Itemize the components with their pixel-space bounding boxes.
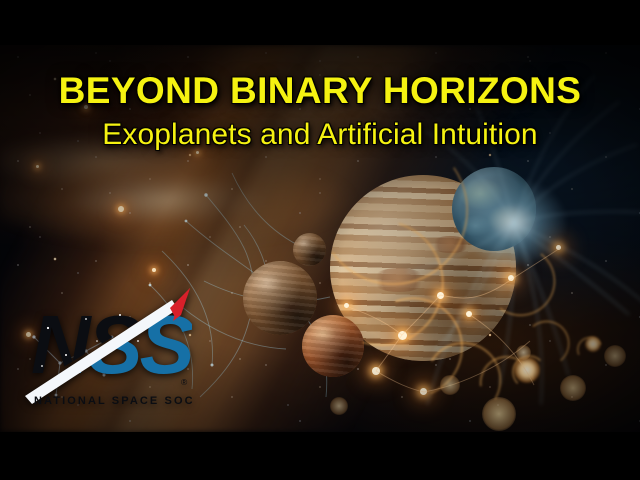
bokeh-orb xyxy=(560,375,586,401)
nss-logo-artwork: NSS NSS ® NAT xyxy=(22,282,192,410)
bokeh-orb xyxy=(482,397,516,431)
bokeh-orb xyxy=(516,345,531,360)
bokeh-orb xyxy=(604,345,626,367)
letterbox-bar-top xyxy=(0,0,640,45)
registered-mark: ® xyxy=(181,377,188,387)
thumbnail-stage: BEYOND BINARY HORIZONS Exoplanets and Ar… xyxy=(0,0,640,480)
letterbox-bar-bottom xyxy=(0,432,640,480)
nss-tagline: NATIONAL SPACE SOCIETY xyxy=(34,395,192,407)
nss-logo: NSS NSS ® NAT xyxy=(22,282,192,410)
bokeh-orb xyxy=(330,397,348,415)
bokeh-orb xyxy=(440,375,460,395)
